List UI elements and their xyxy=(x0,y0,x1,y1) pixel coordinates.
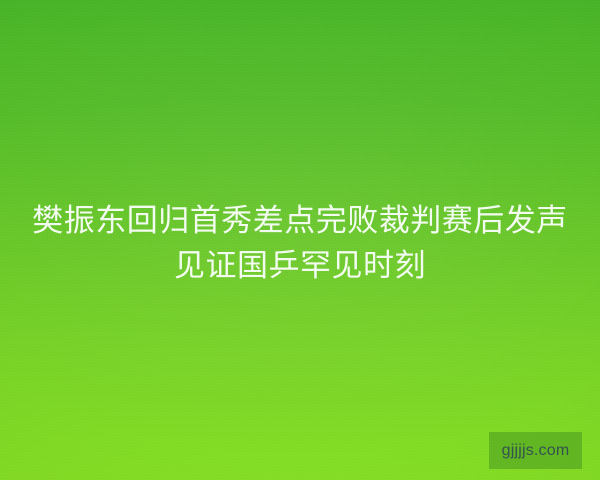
watermark-badge: gjjjjs.com xyxy=(489,432,582,469)
watermark-text: gjjjjs.com xyxy=(502,443,570,459)
poster-image: 樊振东回归首秀差点完败裁判赛后发声见证国乒罕见时刻 gjjjjs.com xyxy=(0,0,600,480)
poster-headline: 樊振东回归首秀差点完败裁判赛后发声见证国乒罕见时刻 xyxy=(0,198,600,288)
